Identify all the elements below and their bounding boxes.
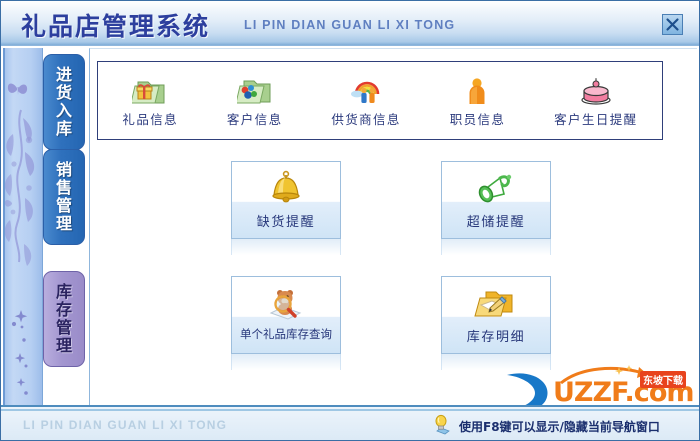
sidebar-tab-label-char: 入: [56, 102, 72, 120]
toolbar-item-customer-info[interactable]: 客户信息: [202, 62, 306, 139]
close-icon: [663, 15, 682, 34]
tile-out-of-stock-alert[interactable]: 缺货提醒: [231, 161, 341, 239]
tile-label: 缺货提醒: [257, 211, 315, 230]
status-bar-pinyin: LI PIN DIAN GUAN LI XI TONG: [23, 418, 227, 432]
bell-icon: [264, 168, 308, 208]
top-toolbar: 礼品信息 客户信息: [97, 61, 663, 140]
sidebar-tab-label-char: 理: [56, 337, 72, 355]
tile-label: 超储提醒: [467, 211, 525, 230]
tile-reflection: [231, 239, 341, 255]
person-icon: [459, 74, 495, 108]
lightbulb-icon: [429, 413, 453, 440]
main-content-area: 礼品信息 客户信息: [89, 48, 697, 405]
gift-folder-icon: [132, 74, 168, 108]
sidebar-tab-label-char: 库: [56, 283, 72, 301]
megaphone-icon: [474, 168, 518, 208]
toolbar-item-label: 礼品信息: [122, 109, 178, 128]
toolbar-item-supplier-info[interactable]: 供货商信息: [307, 62, 425, 139]
tile-inventory-detail[interactable]: 库存明细: [441, 276, 551, 354]
sidebar-tab-label-char: 销: [56, 161, 72, 179]
application-window: 礼品店管理系统 LI PIN DIAN GUAN LI XI TONG: [0, 0, 700, 441]
toolbar-item-customer-birthday-reminder[interactable]: 客户生日提醒: [530, 62, 662, 139]
supplier-rainbow-icon: [348, 74, 384, 108]
tile-reflection: [441, 239, 551, 255]
bear-search-icon: [264, 283, 308, 323]
sidebar-tab-label-char: 货: [56, 84, 72, 102]
toolbar-item-label: 职员信息: [450, 109, 506, 128]
navigation-tabstrip: 进 货 入 库 销 售 管 理 库 存 管 理: [43, 48, 87, 405]
customer-folder-icon: [237, 74, 273, 108]
sidebar-tab-label-char: 进: [56, 66, 72, 84]
title-bar: 礼品店管理系统 LI PIN DIAN GUAN LI XI TONG: [1, 1, 700, 46]
toolbar-item-label: 客户信息: [227, 109, 283, 128]
sidebar-tab-inventory-management[interactable]: 库 存 管 理: [43, 271, 85, 367]
toolbar-item-staff-info[interactable]: 职员信息: [425, 62, 529, 139]
sidebar-tab-label-char: 售: [56, 179, 72, 197]
tile-label: 单个礼品库存查询: [240, 326, 332, 342]
sidebar-tab-label-char: 理: [56, 215, 72, 233]
toolbar-item-label: 客户生日提醒: [554, 109, 637, 128]
tile-label: 库存明细: [467, 326, 525, 345]
status-bar-hint: 使用F8键可以显示/隐藏当前导航窗口: [459, 418, 660, 435]
tile-overstock-alert[interactable]: 超储提醒: [441, 161, 551, 239]
toolbar-item-gift-info[interactable]: 礼品信息: [98, 62, 202, 139]
folder-pencil-icon: [474, 283, 518, 323]
decorative-side-panel: [3, 48, 43, 405]
status-bar: LI PIN DIAN GUAN LI XI TONG 使用F8键可以显示/隐藏…: [1, 405, 700, 440]
page-title-pinyin: LI PIN DIAN GUAN LI XI TONG: [244, 18, 455, 32]
tile-reflection: [231, 354, 341, 370]
sidebar-tab-label-char: 管: [56, 319, 72, 337]
birthday-cake-icon: [578, 74, 614, 108]
sidebar-tab-label-char: 库: [56, 120, 72, 138]
sidebar-tab-purchase-stockin[interactable]: 进 货 入 库: [43, 54, 85, 150]
sidebar-tab-label-char: 存: [56, 301, 72, 319]
page-title: 礼品店管理系统: [21, 7, 210, 43]
close-button[interactable]: [662, 14, 683, 35]
sidebar-tab-label-char: 管: [56, 197, 72, 215]
sidebar-tab-sales-management[interactable]: 销 售 管 理: [43, 149, 85, 245]
toolbar-item-label: 供货商信息: [331, 109, 401, 128]
tile-single-gift-stock-query[interactable]: 单个礼品库存查询: [231, 276, 341, 354]
tile-reflection: [441, 354, 551, 370]
